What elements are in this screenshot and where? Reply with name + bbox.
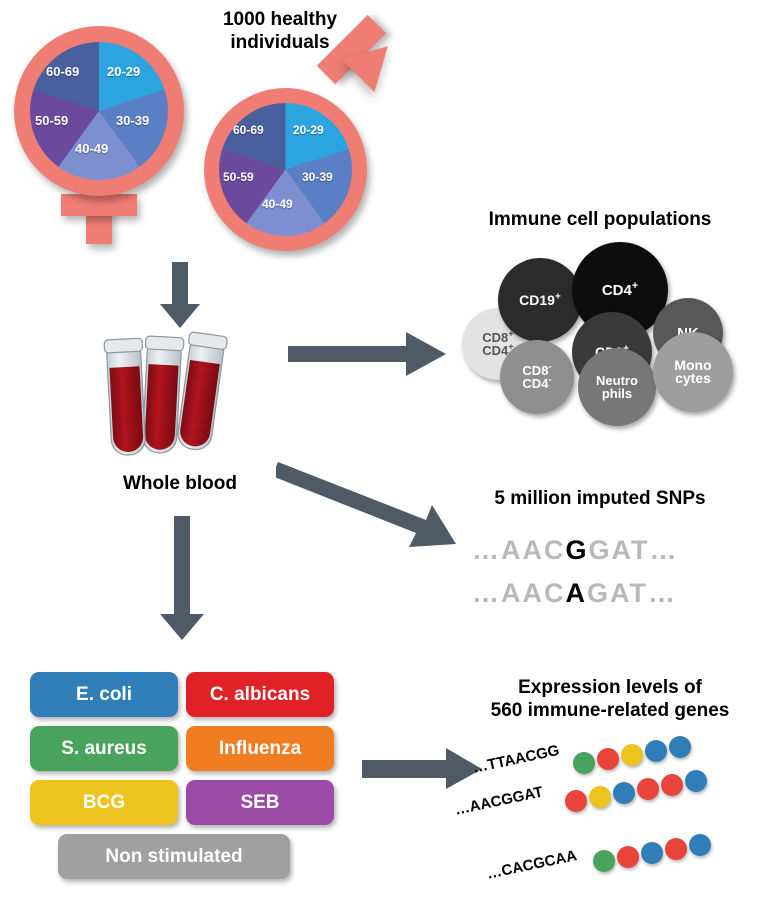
expression-bead-diagram: …TTAACGG …AACGGAT …CACGCAA: [455, 740, 765, 900]
male-pie-label-30-39: 30-39: [302, 170, 333, 184]
expression-sequence-1: …TTAACGG: [471, 742, 561, 777]
female-pie-label-40-49: 40-49: [75, 141, 108, 156]
bead-1-4: [645, 740, 667, 762]
bead-1-1: [573, 752, 595, 774]
immune-cell-cluster: CD8+CD4+ CD19+ CD4+ CD8+ NK CD8-CD4- Neu…: [450, 240, 750, 410]
female-pie-label-20-29: 20-29: [107, 64, 140, 79]
bead-1-2: [597, 748, 619, 770]
whole-blood-label: Whole blood: [75, 472, 285, 495]
male-symbol: 20-29 30-39 40-49 50-59 60-69: [198, 40, 418, 260]
bead-3-2: [617, 846, 639, 868]
bead-2-2: [589, 786, 611, 808]
female-stem-horizontal: [61, 194, 137, 216]
male-pie-label-60-69: 60-69: [233, 123, 264, 137]
female-symbol: 20-29 30-39 40-49 50-59 60-69: [6, 18, 196, 248]
expression-title-line2: 560 immune-related genes: [455, 699, 765, 722]
bead-2-3: [613, 782, 635, 804]
cell-label-cd4n: CD4-: [522, 377, 551, 390]
bead-3-3: [641, 842, 663, 864]
snp-top-prefix: …AAC: [472, 535, 566, 565]
arrow-blood-to-stimuli: [152, 516, 222, 642]
immune-cell-cd8n-cd4n: CD8-CD4-: [500, 340, 574, 414]
stimulus-c-albicans[interactable]: C. albicans: [186, 672, 334, 717]
bead-2-4: [637, 778, 659, 800]
stimulus-influenza[interactable]: Influenza: [186, 726, 334, 771]
bead-3-5: [689, 834, 711, 856]
snp-top-allele: G: [566, 535, 589, 565]
cell-label-cd19p: CD19+: [519, 294, 561, 307]
stimulus-s-aureus[interactable]: S. aureus: [30, 726, 178, 771]
bead-2-1: [565, 790, 587, 812]
stimulus-seb[interactable]: SEB: [186, 780, 334, 825]
snp-bottom-suffix: GAT…: [587, 578, 677, 608]
stimulus-bcg[interactable]: BCG: [30, 780, 178, 825]
cell-label-phils: phils: [596, 387, 638, 400]
expression-title-line1: Expression levels of: [455, 676, 765, 699]
male-pie-label-50-59: 50-59: [223, 170, 254, 184]
bead-2-5: [661, 774, 683, 796]
blood-tubes: [100, 330, 260, 460]
snps-title: 5 million imputed SNPs: [450, 487, 750, 510]
female-pie-chart: [30, 42, 168, 180]
arrow-cohort-to-blood: [150, 262, 220, 330]
stimulus-e-coli[interactable]: E. coli: [30, 672, 178, 717]
arrow-blood-to-immune: [288, 332, 448, 378]
snp-bottom-allele: A: [566, 578, 588, 608]
bead-1-5: [669, 736, 691, 758]
female-pie-label-30-39: 30-39: [116, 113, 149, 128]
immune-cell-neutrophils: Neutrophils: [578, 348, 656, 426]
bead-3-4: [665, 838, 687, 860]
immune-cell-cd19p: CD19+: [498, 258, 582, 342]
female-pie-label-60-69: 60-69: [46, 64, 79, 79]
cell-label-cd4p-big: CD4+: [602, 284, 638, 297]
snp-top-suffix: GAT…: [589, 535, 679, 565]
immune-title: Immune cell populations: [440, 208, 760, 231]
bead-2-6: [685, 770, 707, 792]
expression-sequence-3: …CACGCAA: [485, 847, 578, 883]
arrow-blood-to-snps: [276, 448, 461, 558]
expression-title: Expression levels of 560 immune-related …: [455, 676, 765, 722]
female-pie-label-50-59: 50-59: [35, 113, 68, 128]
stimulus-non-stimulated[interactable]: Non stimulated: [58, 834, 290, 879]
snp-bottom-prefix: …AAC: [472, 578, 566, 608]
snp-sequence-top: …AACGGAT…: [472, 535, 679, 566]
male-pie-label-40-49: 40-49: [262, 197, 293, 211]
bead-3-1: [593, 850, 615, 872]
expression-sequence-2: …AACGGAT: [453, 784, 544, 819]
immune-cell-monocytes: Monocytes: [653, 332, 733, 412]
cell-label-cytes: cytes: [674, 372, 711, 385]
snp-sequence-bottom: …AACAGAT…: [472, 578, 677, 609]
bead-1-3: [621, 744, 643, 766]
male-pie-label-20-29: 20-29: [293, 123, 324, 137]
